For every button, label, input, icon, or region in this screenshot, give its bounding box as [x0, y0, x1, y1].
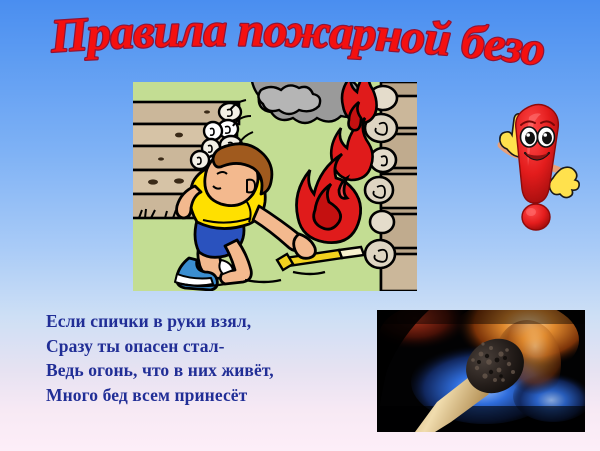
mascot-right-arm [549, 167, 579, 198]
page-title-outline: Правила пожарной безопасности [0, 0, 548, 76]
slide-canvas: Правила пожарной безопасности Правила по… [0, 0, 600, 451]
poem-line-1: Если спички в руки взял, [46, 309, 366, 334]
burning-match-photo [377, 310, 585, 432]
boy-ear [247, 180, 255, 193]
poem-text-block: Если спички в руки взял, Сразу ты опасен… [46, 309, 366, 407]
page-title-fill-text: Правила пожарной безопасности [0, 0, 548, 76]
page-title-fill: Правила пожарной безопасности [0, 0, 548, 76]
exclamation-mark-mascot-icon [487, 93, 583, 245]
poem-line-3: Ведь огонь, что в них живёт, [46, 358, 366, 383]
page-title: Правила пожарной безопасности Правила по… [0, 4, 600, 80]
mascot-dot [522, 204, 550, 230]
page-title-outline-text: Правила пожарной безопасности [0, 0, 548, 76]
mascot-dot-highlight [526, 208, 536, 216]
fire-safety-illustration [133, 82, 417, 291]
poem-line-4: Много бед всем принесёт [46, 383, 366, 408]
poem-line-2: Сразу ты опасен стал- [46, 334, 366, 359]
